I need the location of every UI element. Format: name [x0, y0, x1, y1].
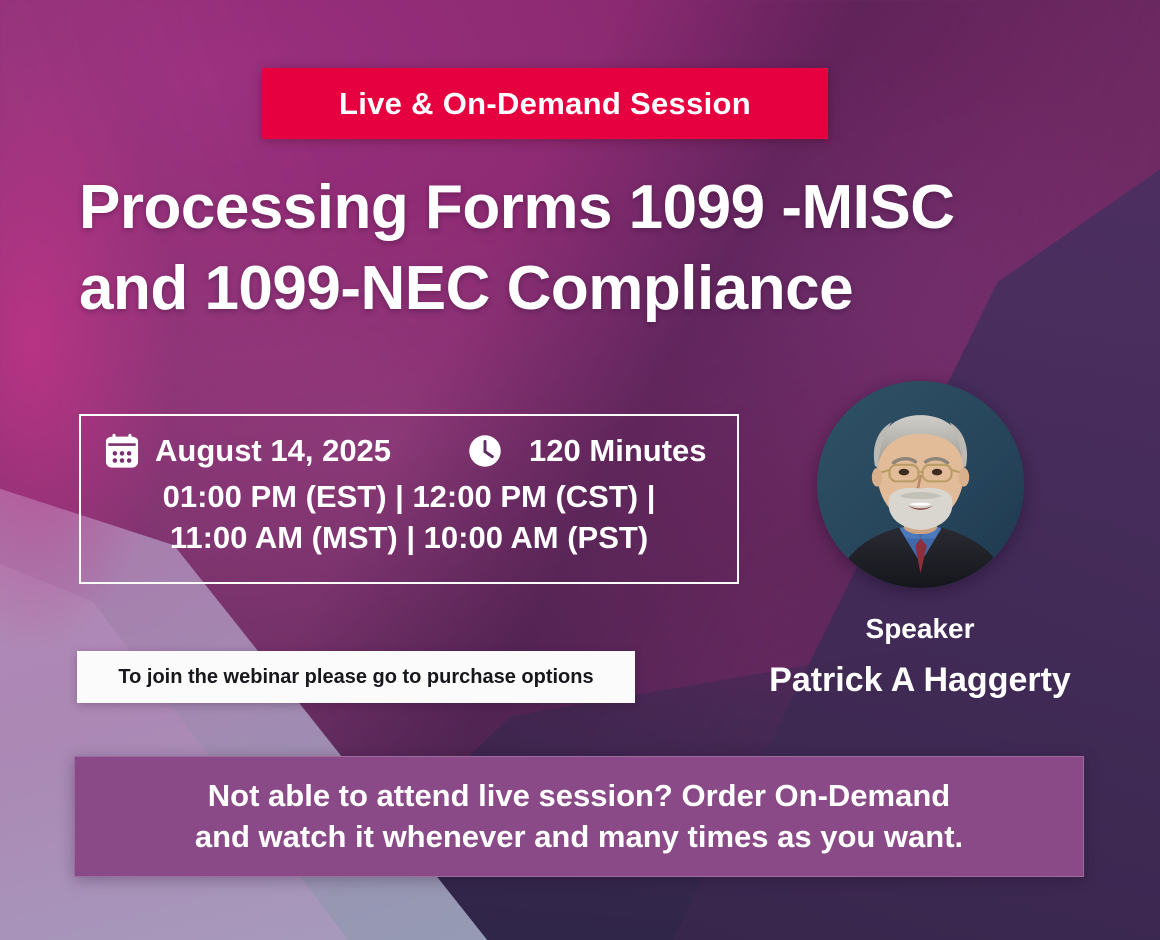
speaker-role-label: Speaker	[760, 613, 1080, 645]
session-type-badge: Live & On-Demand Session	[262, 68, 828, 139]
speaker-name: Patrick A Haggerty	[744, 661, 1096, 700]
clock-icon	[467, 433, 503, 469]
session-type-badge-label: Live & On-Demand Session	[339, 86, 751, 122]
session-timezones-line-2: 11:00 AM (MST) | 10:00 AM (PST)	[103, 517, 715, 558]
session-date: August 14, 2025	[155, 433, 391, 469]
session-timezones: 01:00 PM (EST) | 12:00 PM (CST) | 11:00 …	[103, 476, 715, 558]
on-demand-notice-line-1: Not able to attend live session? Order O…	[208, 776, 950, 817]
purchase-options-button[interactable]: To join the webinar please go to purchas…	[77, 651, 635, 703]
session-timezones-line-1: 01:00 PM (EST) | 12:00 PM (CST) |	[103, 476, 715, 517]
speaker-avatar	[817, 381, 1024, 588]
purchase-options-label: To join the webinar please go to purchas…	[118, 666, 593, 689]
session-schedule-box: August 14, 2025 120 Minutes 01:00 PM (ES…	[79, 414, 739, 584]
calendar-icon	[103, 432, 141, 470]
banner-content: Live & On-Demand Session Processing Form…	[0, 0, 1160, 940]
page-title-line-2: and 1099-NEC Compliance	[79, 249, 1069, 330]
page-title: Processing Forms 1099 -MISC and 1099-NEC…	[79, 168, 1069, 329]
on-demand-notice-line-2: and watch it whenever and many times as …	[195, 817, 963, 858]
on-demand-notice: Not able to attend live session? Order O…	[74, 756, 1084, 877]
session-schedule-header: August 14, 2025 120 Minutes	[103, 432, 715, 470]
webinar-promo-banner: Live & On-Demand Session Processing Form…	[0, 0, 1160, 940]
session-duration: 120 Minutes	[529, 433, 706, 469]
page-title-line-1: Processing Forms 1099 -MISC	[79, 168, 1069, 249]
